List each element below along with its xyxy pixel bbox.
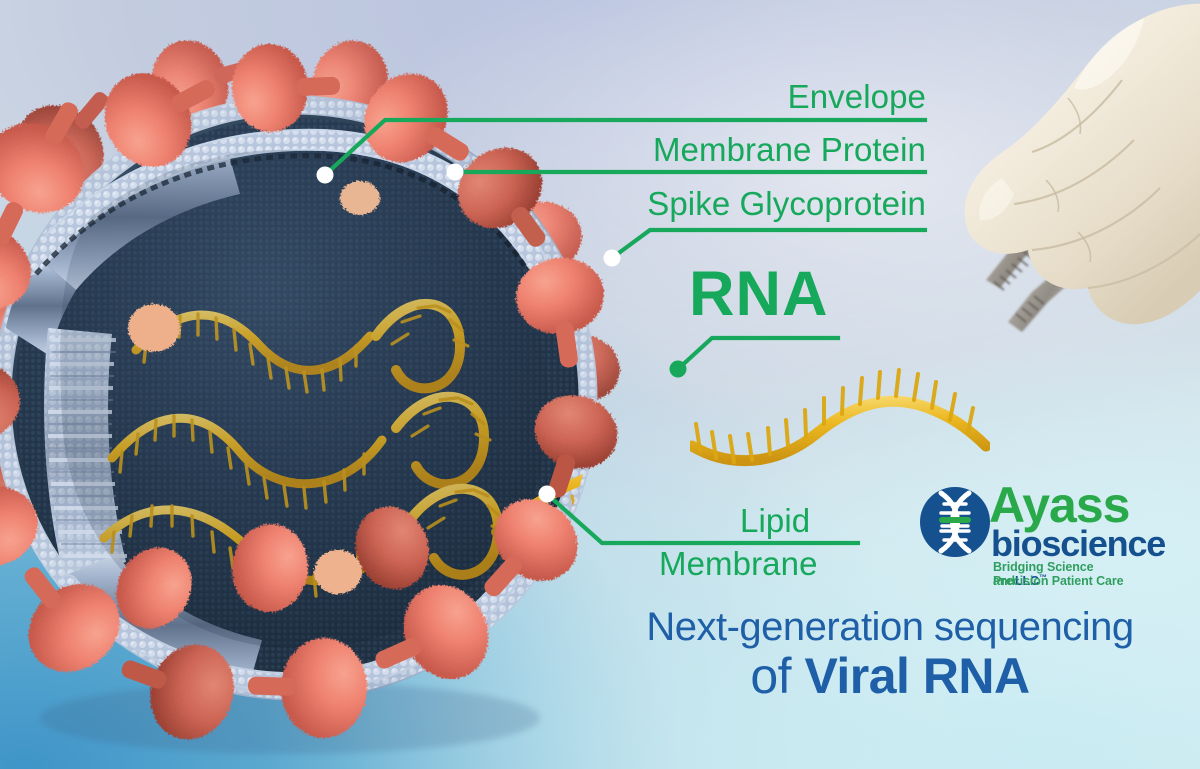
label-membrane-protein: Membrane Protein [653,131,926,169]
label-spike-glycoprotein: Spike Glycoprotein [647,185,926,223]
headline-block: Next-generation sequencing of Viral RNA [600,606,1180,703]
anchor-dot-envelope [317,167,334,184]
anchor-dot-rna [670,361,687,378]
label-membrane: Membrane [659,545,818,583]
headline-line-1: Next-generation sequencing [600,606,1180,648]
label-envelope: Envelope [788,78,926,116]
label-lipid: Lipid [740,502,810,540]
illustration-canvas: Envelope Membrane Protein Spike Glycopro… [0,0,1200,769]
headline-line-2-emphasis: Viral RNA [804,648,1029,704]
logo-brand-secondary: bioscience [991,526,1165,562]
anchor-dot-lipid-membrane [539,486,556,503]
ayass-bioscience-logo[interactable]: Ayass bioscience Bridging Science andLLC… [905,484,1145,596]
leader-line-rna [678,338,838,369]
leader-line-spike-glycoprotein [612,230,925,258]
leader-line-lipid-membrane [547,494,858,543]
callout-anchor-dots [317,164,621,503]
dna-helix-circle-icon [917,484,993,560]
headline-line-2: of Viral RNA [600,650,1180,703]
anchor-dot-membrane-protein [447,164,464,181]
label-rna: RNA [689,258,829,330]
headline-line-2-prefix: of [750,648,804,704]
anchor-dot-spike-glycoprotein [604,250,621,267]
logo-tagline-line-2: Precision Patient Care [993,574,1124,588]
